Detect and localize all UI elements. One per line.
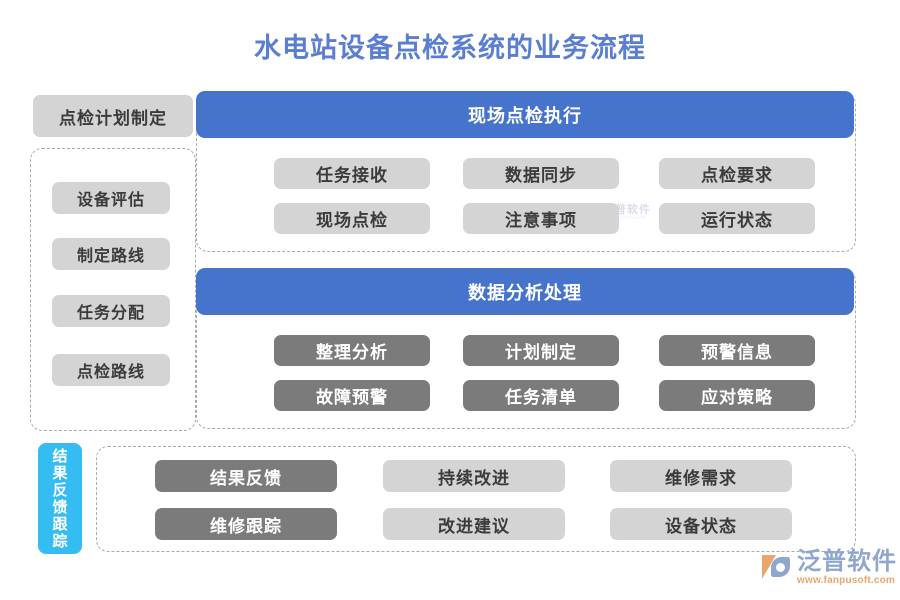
plan-item-1[interactable]: 制定路线 [52, 238, 170, 270]
feedback-item-5[interactable]: 设备状态 [610, 508, 792, 540]
brand-url: www.fanpusoft.com [797, 576, 897, 586]
fanpu-logo-icon [762, 554, 792, 582]
feedback-item-2[interactable]: 维修需求 [610, 460, 792, 492]
brand-logo: 泛普软件 www.fanpusoft.com [762, 550, 897, 586]
execution-item-0[interactable]: 任务接收 [274, 158, 430, 189]
execution-item-1[interactable]: 数据同步 [463, 158, 619, 189]
plan-title-box[interactable]: 点检计划制定 [33, 95, 193, 137]
analysis-item-1[interactable]: 计划制定 [463, 335, 619, 366]
brand-name: 泛普软件 [797, 550, 897, 574]
analysis-item-4[interactable]: 任务清单 [463, 380, 619, 411]
feedback-label-char-2: 反 [52, 482, 67, 499]
feedback-label-char-5: 踪 [52, 533, 67, 550]
execution-item-4[interactable]: 注意事项 [463, 203, 619, 234]
feedback-item-0[interactable]: 结果反馈 [155, 460, 337, 492]
analysis-item-5[interactable]: 应对策略 [659, 380, 815, 411]
execution-item-2[interactable]: 点检要求 [659, 158, 815, 189]
feedback-item-3[interactable]: 维修跟踪 [155, 508, 337, 540]
execution-section-header[interactable]: 现场点检执行 [196, 91, 854, 138]
page-title: 水电站设备点检系统的业务流程 [0, 26, 900, 65]
feedback-item-1[interactable]: 持续改进 [383, 460, 565, 492]
analysis-item-0[interactable]: 整理分析 [274, 335, 430, 366]
plan-item-3[interactable]: 点检路线 [52, 354, 170, 386]
plan-item-2[interactable]: 任务分配 [52, 295, 170, 327]
analysis-item-2[interactable]: 预警信息 [659, 335, 815, 366]
feedback-label-char-0: 结 [52, 448, 67, 465]
execution-item-3[interactable]: 现场点检 [274, 203, 430, 234]
analysis-item-3[interactable]: 故障预警 [274, 380, 430, 411]
feedback-label-char-3: 馈 [52, 499, 67, 516]
execution-item-5[interactable]: 运行状态 [659, 203, 815, 234]
feedback-label-char-1: 果 [52, 465, 67, 482]
analysis-section-header[interactable]: 数据分析处理 [196, 268, 854, 315]
feedback-label-char-4: 跟 [52, 516, 67, 533]
flowchart-canvas: 水电站设备点检系统的业务流程 点检计划制定 设备评估 制定路线 任务分配 点检路… [0, 0, 900, 600]
plan-item-0[interactable]: 设备评估 [52, 182, 170, 214]
feedback-section-label[interactable]: 结 果 反 馈 跟 踪 [38, 443, 82, 554]
feedback-item-4[interactable]: 改进建议 [383, 508, 565, 540]
